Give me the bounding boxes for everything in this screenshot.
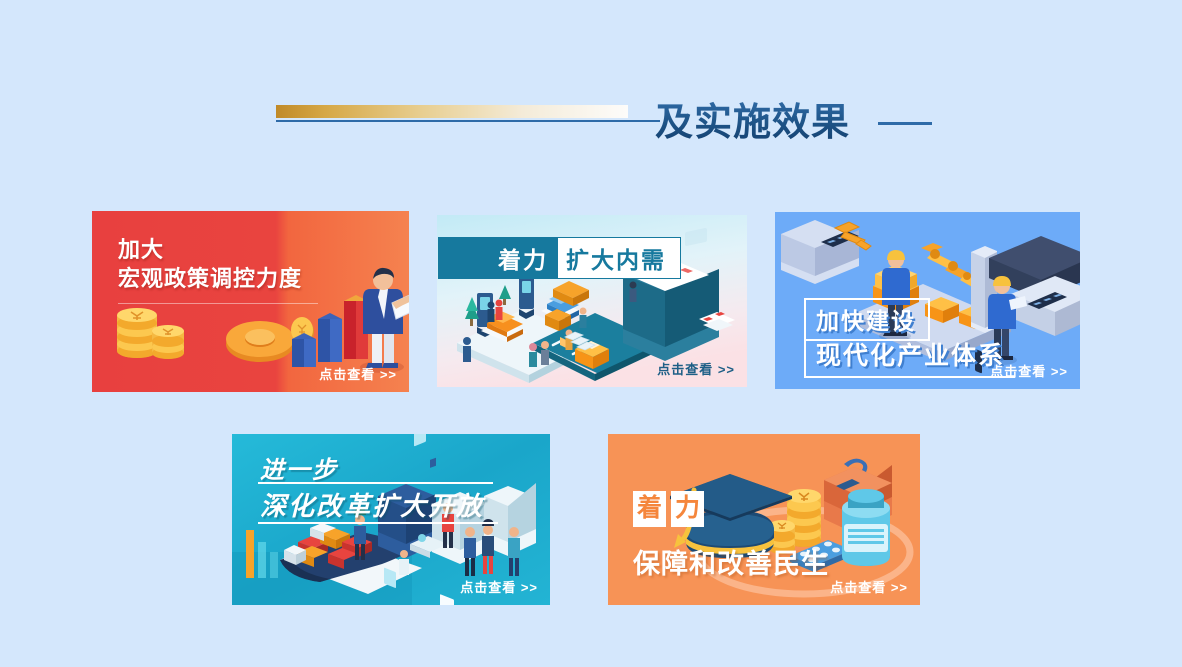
card-macro-policy-cta[interactable]: 点击查看 >> <box>319 364 397 383</box>
title-rule-secondary <box>878 122 932 125</box>
card-expand-domestic-demand-heading: 着力 扩大内需 <box>438 237 681 279</box>
title-rule-primary <box>276 120 660 122</box>
card-macro-policy-heading: 加大 宏观政策调控力度 <box>118 235 302 293</box>
card-modern-industrial-system-line2: 现代化产业体系 <box>804 334 1015 378</box>
card-deepen-reform-opening-cta[interactable]: 点击查看 >> <box>460 577 538 596</box>
card-deepen-reform-opening-line1: 进一步 <box>260 450 338 485</box>
card-safeguard-improve-livelihood[interactable]: 着 力 保障和改善民生 点击查看 >> <box>608 434 920 605</box>
card-expand-domestic-demand[interactable]: 着力 扩大内需 点击查看 >> <box>437 215 747 387</box>
card-safeguard-improve-livelihood-line2: 保障和改善民生 <box>633 542 829 581</box>
card-macro-policy-line1: 加大 <box>118 235 302 264</box>
page-subtitle: 及实施效果 <box>655 99 850 151</box>
card-deepen-reform-opening-line2: 深化改革扩大开放 <box>260 486 484 523</box>
page-header: 国务院重要政策举措 及实施效果 <box>0 0 1182 180</box>
card-expand-domestic-demand-tag: 着力 <box>438 237 558 279</box>
page-title-line1: 国务院重要政策举措 <box>276 58 676 106</box>
card-safeguard-improve-livelihood-tag-char2: 力 <box>671 491 704 527</box>
card-modern-industrial-system[interactable]: 加快建设 现代化产业体系 点击查看 >> <box>775 212 1080 389</box>
card-expand-domestic-demand-line2: 扩大内需 <box>558 237 681 279</box>
card-modern-industrial-system-cta[interactable]: 点击查看 >> <box>990 361 1068 380</box>
card-deepen-reform-opening[interactable]: 进一步 深化改革扩大开放 点击查看 >> <box>232 434 550 605</box>
card-macro-policy-divider <box>118 303 318 304</box>
title-gold-accent-bar <box>276 105 628 118</box>
card-safeguard-improve-livelihood-tag-char1: 着 <box>633 491 666 527</box>
card-safeguard-improve-livelihood-tag: 着 力 <box>633 491 704 527</box>
card-safeguard-improve-livelihood-cta[interactable]: 点击查看 >> <box>830 577 908 596</box>
card-macro-policy[interactable]: 加大 宏观政策调控力度 点击查看 >> <box>92 211 409 392</box>
card-deepen-reform-opening-divider-2 <box>258 522 498 524</box>
page-title-line2: 及实施效果 <box>655 99 850 145</box>
card-macro-policy-line2: 宏观政策调控力度 <box>118 264 302 293</box>
card-expand-domestic-demand-cta[interactable]: 点击查看 >> <box>657 359 735 378</box>
card-deepen-reform-opening-divider-1 <box>258 482 493 484</box>
